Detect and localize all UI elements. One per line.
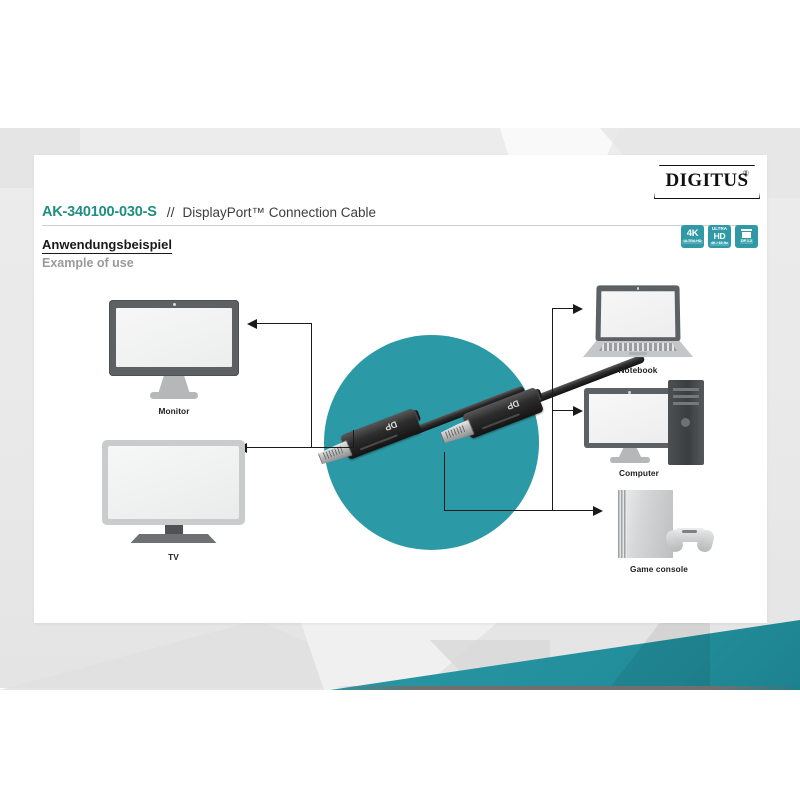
monitor-webcam xyxy=(173,303,176,306)
title-separator: // xyxy=(167,204,175,220)
tv-stand-base xyxy=(131,534,217,543)
ultra-hd-badge: ULTRA HD 4K / 60 Hz xyxy=(708,225,731,248)
section-heading-en: Example of use xyxy=(42,256,134,270)
badge-4k-top: 4K xyxy=(687,229,699,239)
monitor-stand-base xyxy=(150,392,198,399)
badge-dp-bottom: DP 1.2 xyxy=(740,239,754,244)
game-console-device xyxy=(604,490,714,560)
right-plug-stub xyxy=(444,452,445,511)
computer-label: Computer xyxy=(584,468,694,478)
badge-uhd-mid: HD xyxy=(714,232,726,241)
monitor-device xyxy=(109,300,239,400)
connector-marking-right: DP xyxy=(506,398,521,412)
content-card: DIGITUS ® AK-340100-030-S // DisplayPort… xyxy=(34,155,767,623)
product-description: DisplayPort™ Connection Cable xyxy=(182,205,376,220)
notebook-branch-line xyxy=(552,308,574,309)
displayport-cable-image: DP DP xyxy=(304,335,574,550)
computer-stand-base xyxy=(610,457,650,463)
notebook-keyboard xyxy=(599,343,677,351)
product-sku: AK-340100-030-S xyxy=(42,204,157,220)
console-arrow xyxy=(593,506,603,516)
notebook-label: Notebook xyxy=(583,365,693,375)
computer-monitor-screen xyxy=(584,388,676,448)
dp-1-2-badge: DP 1.2 xyxy=(735,225,758,248)
tv-screen xyxy=(102,440,245,525)
left-plug-stub xyxy=(353,430,354,448)
computer-tower xyxy=(668,380,704,465)
section-heading-de: Anwendungsbeispiel xyxy=(42,237,172,254)
connector-notch-left xyxy=(360,434,398,450)
notebook-touchpad xyxy=(629,352,647,355)
computer-webcam xyxy=(628,391,631,394)
header-divider xyxy=(42,225,758,226)
badge-uhd-bottom: 4K / 60 Hz xyxy=(710,242,730,247)
tv-label: TV xyxy=(102,552,245,562)
tv-branch-line xyxy=(247,447,354,448)
game-console-label: Game console xyxy=(599,564,719,574)
wedge-shadow-line xyxy=(335,686,795,690)
connector-marking-left: DP xyxy=(384,419,399,433)
computer-device xyxy=(584,380,704,465)
notebook-lid xyxy=(595,285,680,341)
console-gamepad xyxy=(667,526,713,552)
digitus-logo: DIGITUS ® xyxy=(654,165,758,197)
monitor-label: Monitor xyxy=(109,406,239,416)
notebook-device xyxy=(583,285,693,365)
connector-notch-right xyxy=(482,413,520,429)
notebook-arrow xyxy=(573,304,583,314)
displayport-connector-icon xyxy=(741,229,752,238)
computer-branch-line xyxy=(552,410,574,411)
product-title-row: AK-340100-030-S // DisplayPort™ Connecti… xyxy=(42,201,702,223)
computer-arrow xyxy=(573,406,583,416)
monitor-branch-line xyxy=(257,323,312,324)
notebook-webcam xyxy=(637,287,640,290)
usage-diagram: DP DP xyxy=(34,280,767,615)
monitor-screen xyxy=(109,300,239,376)
tv-device xyxy=(102,440,245,550)
4k-ultra-hd-badge: 4K ULTRA HD xyxy=(681,225,704,248)
page-canvas: DIGITUS ® AK-340100-030-S // DisplayPort… xyxy=(0,0,800,800)
left-trunk-line xyxy=(311,323,312,448)
console-body xyxy=(618,490,673,558)
monitor-arrow xyxy=(247,319,257,329)
badge-4k-bottom: ULTRA HD xyxy=(682,240,703,245)
logo-registered-mark: ® xyxy=(743,169,749,178)
computer-power-button xyxy=(681,418,690,427)
console-branch-line xyxy=(444,510,594,511)
feature-badges: 4K ULTRA HD ULTRA HD 4K / 60 Hz DP 1.2 xyxy=(681,225,758,248)
